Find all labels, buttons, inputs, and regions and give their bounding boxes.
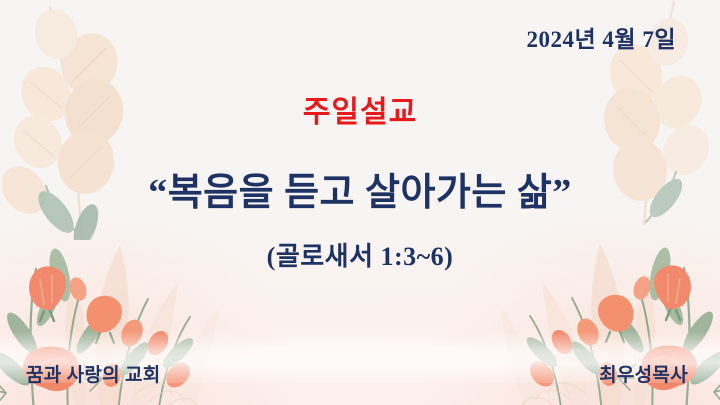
sermon-title-slide: 2024년 4월 7일 주일설교 “복음을 듣고 살아가는 삶” (골로새서 1… [0,0,720,405]
sermon-text-block: 주일설교 “복음을 듣고 살아가는 삶” (골로새서 1:3~6) [0,96,720,273]
sermon-date: 2024년 4월 7일 [527,20,676,54]
church-name: 꿈과 사랑의 교회 [26,360,161,387]
scripture-reference: (골로새서 1:3~6) [0,236,720,273]
sermon-kind-label: 주일설교 [0,96,720,131]
sermon-title: “복음을 듣고 살아가는 삶” [0,171,720,217]
preacher-name: 최우성목사 [599,360,688,387]
